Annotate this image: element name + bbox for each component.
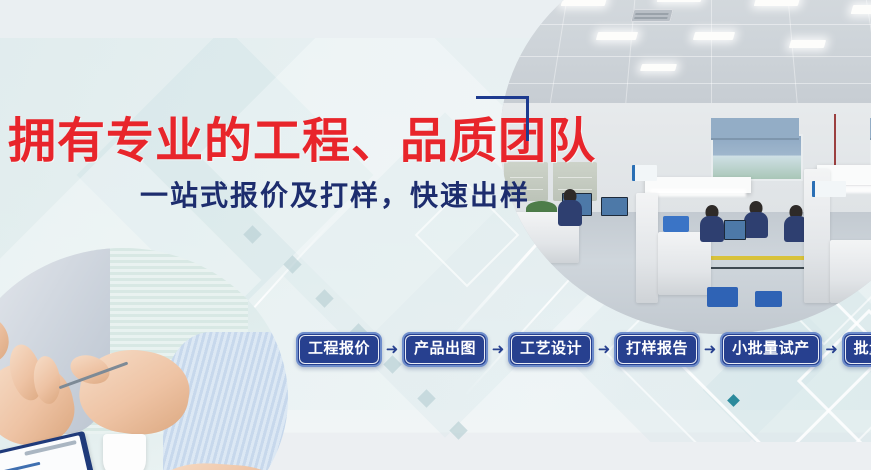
step-arrow-icon: ➜ <box>822 341 842 357</box>
step-arrow-icon: ➜ <box>700 341 720 357</box>
process-step-label: 工艺设计 <box>520 340 582 357</box>
promo-banner: 拥有专业的工程、品质团队 一站式报价及打样，快速出样 工程报价➜产品出图➜工艺设… <box>0 0 871 470</box>
process-steps: 工程报价➜产品出图➜工艺设计➜打样报告➜小批量试产➜批量量产 <box>296 332 871 367</box>
step-arrow-icon: ➜ <box>594 341 614 357</box>
process-step-1[interactable]: 工程报价 <box>296 332 382 367</box>
process-step-6[interactable]: 批量量产 <box>842 332 871 367</box>
page-subtitle: 一站式报价及打样，快速出样 <box>140 182 530 210</box>
process-step-4[interactable]: 打样报告 <box>614 332 700 367</box>
step-arrow-icon: ➜ <box>488 341 508 357</box>
process-step-label: 批量量产 <box>854 340 871 357</box>
corner-bracket-icon <box>476 96 529 141</box>
process-step-3[interactable]: 工艺设计 <box>508 332 594 367</box>
business-meeting-photo <box>0 248 288 470</box>
process-step-label: 工程报价 <box>308 340 370 357</box>
process-step-label: 产品出图 <box>414 340 476 357</box>
process-step-label: 打样报告 <box>626 340 688 357</box>
process-step-5[interactable]: 小批量试产 <box>720 332 822 367</box>
process-step-2[interactable]: 产品出图 <box>402 332 488 367</box>
step-arrow-icon: ➜ <box>382 341 402 357</box>
process-step-label: 小批量试产 <box>732 340 810 357</box>
